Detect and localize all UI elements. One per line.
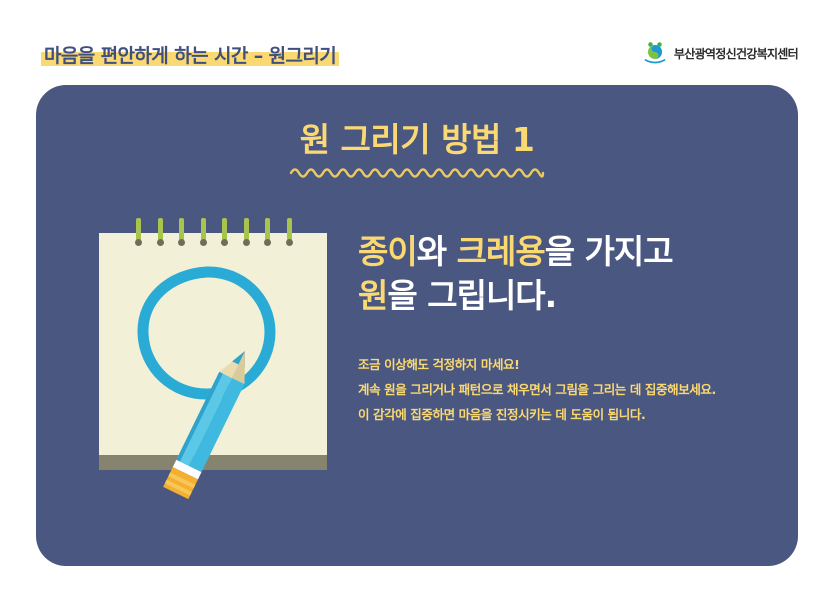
spiral-ring (135, 218, 142, 252)
page-header: 마음을 편안하게 하는 시간 – 원그리기 부산광역정신건강복지센터 (0, 0, 835, 85)
header-title-group: 마음을 편안하게 하는 시간 – 원그리기 (41, 40, 339, 68)
body-text: 조금 이상해도 걱정하지 마세요! 계속 원을 그리거나 패턴으로 채우면서 그… (358, 352, 776, 427)
spiral-ring (200, 218, 207, 252)
body-line: 조금 이상해도 걱정하지 마세요! (358, 352, 776, 377)
headline-keyword-paper: 종이 (358, 232, 417, 271)
headline-line-1: 종이와 크레용을 가지고 (358, 230, 776, 274)
slide-title: 원 그리기 방법 1 (36, 113, 798, 161)
headline-line-2: 원을 그립니다. (358, 274, 776, 318)
spiral-ring (157, 218, 164, 252)
organization-logo: 부산광역정신건강복지센터 (643, 41, 798, 65)
headline-text-3: 을 그립니다. (387, 276, 556, 315)
spiral-ring (286, 218, 293, 252)
headline-text-2: 을 가지고 (545, 232, 673, 271)
headline-keyword-crayon: 크레용 (457, 232, 545, 271)
body-line: 계속 원을 그리거나 패턴으로 채우면서 그림을 그리는 데 집중해보세요. (358, 377, 776, 402)
spiral-ring (221, 218, 228, 252)
busan-mental-health-logo-icon (643, 41, 667, 65)
notepad-illustration (99, 218, 327, 480)
spiral-ring (264, 218, 271, 252)
title-wavy-underline (289, 163, 545, 181)
spiral-ring (243, 218, 250, 252)
text-content-column: 종이와 크레용을 가지고 원을 그립니다. 조금 이상해도 걱정하지 마세요! … (358, 230, 776, 427)
spiral-ring (178, 218, 185, 252)
header-title: 마음을 편안하게 하는 시간 – 원그리기 (41, 41, 339, 68)
body-line: 이 감각에 집중하면 마음을 진정시키는 데 도움이 됩니다. (358, 402, 776, 427)
headline: 종이와 크레용을 가지고 원을 그립니다. (358, 230, 776, 318)
organization-name: 부산광역정신건강복지센터 (674, 45, 798, 62)
notepad-spiral-rings (135, 218, 293, 252)
headline-keyword-circle: 원 (358, 276, 387, 315)
headline-text-1: 와 (417, 232, 457, 271)
content-card: 원 그리기 방법 1 (36, 85, 798, 566)
